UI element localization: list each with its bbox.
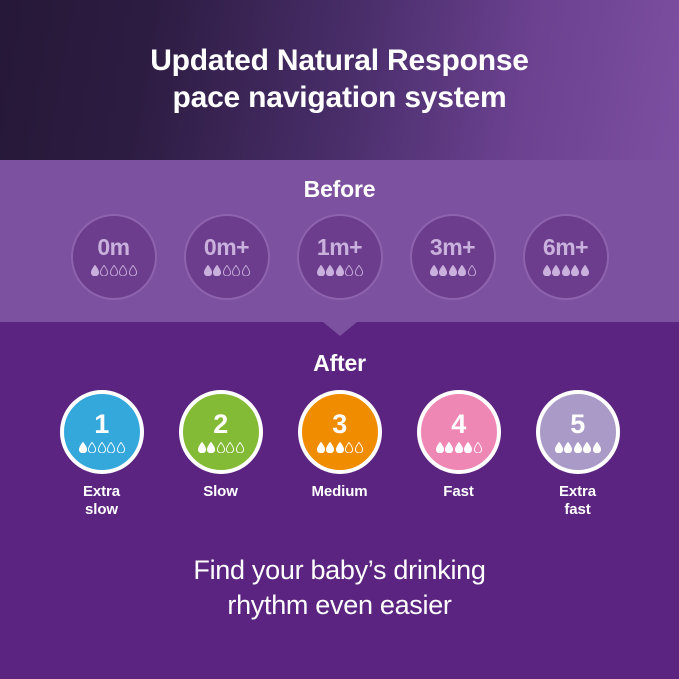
after-number-label: 4 xyxy=(451,411,466,438)
page-title-line1: Updated Natural Response xyxy=(150,44,529,77)
droplet-row xyxy=(317,265,363,276)
droplet-icon xyxy=(98,442,106,453)
after-pace-label: Medium xyxy=(311,483,367,501)
before-item[interactable]: 1m+ xyxy=(290,214,390,300)
before-circle[interactable]: 0m xyxy=(71,214,157,300)
droplet-icon xyxy=(583,442,591,453)
before-item[interactable]: 0m+ xyxy=(177,214,277,300)
droplet-icon xyxy=(236,442,244,453)
droplet-icon xyxy=(574,442,582,453)
droplet-icon xyxy=(355,265,363,276)
before-section: Before 0m0m+1m+3m+6m+ xyxy=(0,160,679,322)
droplet-icon xyxy=(326,442,334,453)
droplet-icon xyxy=(110,265,118,276)
after-item[interactable]: 2Slow xyxy=(168,390,274,501)
droplet-icon xyxy=(571,265,579,276)
droplet-icon xyxy=(100,265,108,276)
before-circle[interactable]: 1m+ xyxy=(297,214,383,300)
after-pace-label-line2: slow xyxy=(83,501,120,519)
after-circle[interactable]: 2 xyxy=(179,390,263,474)
after-pace-label: Fast xyxy=(443,483,473,501)
droplet-icon xyxy=(129,265,137,276)
before-age-label: 3m+ xyxy=(430,236,475,259)
droplet-icon xyxy=(336,265,344,276)
droplet-icon xyxy=(562,265,570,276)
droplet-icon xyxy=(317,442,325,453)
droplet-icon xyxy=(119,265,127,276)
droplet-icon xyxy=(91,265,99,276)
after-circle[interactable]: 4 xyxy=(417,390,501,474)
droplet-icon xyxy=(345,442,353,453)
footer-line2: rhythm even easier xyxy=(0,588,679,623)
droplet-row xyxy=(543,265,589,276)
before-item[interactable]: 0m xyxy=(64,214,164,300)
header-banner: Updated Natural Response pace navigation… xyxy=(0,0,679,160)
after-heading: After xyxy=(0,350,679,377)
droplet-icon xyxy=(445,442,453,453)
after-pace-label: Extraslow xyxy=(83,483,120,520)
after-item[interactable]: 4Fast xyxy=(406,390,512,501)
droplet-icon xyxy=(217,442,225,453)
after-pace-label-line1: Extra xyxy=(559,483,596,500)
droplet-row xyxy=(79,442,125,453)
droplet-row xyxy=(430,265,476,276)
after-item[interactable]: 1Extraslow xyxy=(49,390,155,520)
page-title: Updated Natural Response pace navigation… xyxy=(40,43,640,116)
before-age-label: 1m+ xyxy=(317,236,362,259)
droplet-row xyxy=(555,442,601,453)
droplet-icon xyxy=(79,442,87,453)
droplet-icon xyxy=(355,442,363,453)
before-age-label: 6m+ xyxy=(543,236,588,259)
droplet-icon xyxy=(564,442,572,453)
after-number-label: 2 xyxy=(213,411,228,438)
after-pace-label-line1: Slow xyxy=(203,483,238,500)
before-circle[interactable]: 6m+ xyxy=(523,214,609,300)
droplet-row xyxy=(91,265,137,276)
droplet-row xyxy=(317,442,363,453)
droplet-icon xyxy=(458,265,466,276)
droplet-icon xyxy=(117,442,125,453)
footer-tagline: Find your baby’s drinking rhythm even ea… xyxy=(0,553,679,623)
after-section: After 1Extraslow2Slow3Medium4Fast5Extraf… xyxy=(0,350,679,520)
after-circle[interactable]: 3 xyxy=(298,390,382,474)
droplet-icon xyxy=(552,265,560,276)
before-circle-row: 0m0m+1m+3m+6m+ xyxy=(0,214,679,300)
after-number-label: 5 xyxy=(570,411,585,438)
droplet-icon xyxy=(555,442,563,453)
after-pace-label: Extrafast xyxy=(559,483,596,520)
after-circle-row: 1Extraslow2Slow3Medium4Fast5Extrafast xyxy=(0,390,679,520)
droplet-icon xyxy=(439,265,447,276)
droplet-icon xyxy=(107,442,115,453)
before-item[interactable]: 6m+ xyxy=(516,214,616,300)
after-pace-label-line1: Medium xyxy=(311,483,367,500)
droplet-icon xyxy=(455,442,463,453)
after-pace-label: Slow xyxy=(203,483,238,501)
droplet-icon xyxy=(223,265,231,276)
after-number-label: 1 xyxy=(94,411,109,438)
droplet-icon xyxy=(468,265,476,276)
droplet-icon xyxy=(326,265,334,276)
droplet-icon xyxy=(593,442,601,453)
droplet-icon xyxy=(207,442,215,453)
after-number-label: 3 xyxy=(332,411,347,438)
footer-line1: Find your baby’s drinking xyxy=(193,555,485,585)
droplet-icon xyxy=(204,265,212,276)
droplet-icon xyxy=(232,265,240,276)
droplet-icon xyxy=(336,442,344,453)
droplet-icon xyxy=(430,265,438,276)
droplet-icon xyxy=(436,442,444,453)
droplet-icon xyxy=(581,265,589,276)
after-circle[interactable]: 1 xyxy=(60,390,144,474)
before-age-label: 0m xyxy=(97,236,129,259)
droplet-row xyxy=(204,265,250,276)
after-item[interactable]: 5Extrafast xyxy=(525,390,631,520)
before-item[interactable]: 3m+ xyxy=(403,214,503,300)
arrow-down-icon xyxy=(323,322,357,336)
after-item[interactable]: 3Medium xyxy=(287,390,393,501)
after-pace-label-line2: fast xyxy=(559,501,596,519)
before-age-label: 0m+ xyxy=(204,236,249,259)
droplet-icon xyxy=(474,442,482,453)
after-pace-label-line1: Extra xyxy=(83,483,120,500)
droplet-icon xyxy=(317,265,325,276)
droplet-icon xyxy=(464,442,472,453)
droplet-row xyxy=(198,442,244,453)
droplet-icon xyxy=(198,442,206,453)
before-heading: Before xyxy=(0,160,679,203)
droplet-icon xyxy=(449,265,457,276)
before-circle[interactable]: 3m+ xyxy=(410,214,496,300)
before-circle[interactable]: 0m+ xyxy=(184,214,270,300)
droplet-icon xyxy=(213,265,221,276)
infographic-page: Updated Natural Response pace navigation… xyxy=(0,0,679,679)
droplet-icon xyxy=(88,442,96,453)
after-circle[interactable]: 5 xyxy=(536,390,620,474)
page-title-line2: pace navigation system xyxy=(40,80,640,117)
droplet-icon xyxy=(543,265,551,276)
droplet-row xyxy=(436,442,482,453)
droplet-icon xyxy=(242,265,250,276)
after-pace-label-line1: Fast xyxy=(443,483,473,500)
droplet-icon xyxy=(345,265,353,276)
droplet-icon xyxy=(226,442,234,453)
